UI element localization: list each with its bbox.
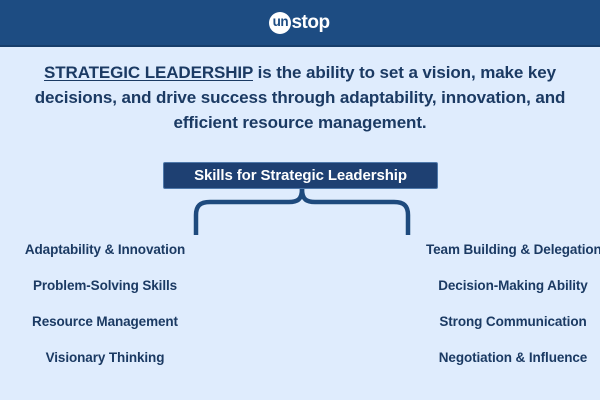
unstop-logo-mark: un bbox=[269, 12, 291, 34]
skill-item: Adaptability & Innovation bbox=[0, 232, 300, 268]
skill-item: Resource Management bbox=[0, 304, 300, 340]
header-band: un stop bbox=[0, 0, 600, 45]
skill-item: Decision-Making Ability bbox=[300, 268, 600, 304]
section-title-box: Skills for Strategic Leadership bbox=[163, 162, 438, 189]
skill-item: Problem-Solving Skills bbox=[0, 268, 300, 304]
infographic-canvas: un stop STRATEGIC LEADERSHIP is the abil… bbox=[0, 0, 600, 400]
curly-bracket-icon bbox=[190, 189, 414, 235]
skill-item: Visionary Thinking bbox=[0, 340, 300, 376]
skill-item: Strong Communication bbox=[300, 304, 600, 340]
unstop-logo[interactable]: un stop bbox=[269, 11, 330, 35]
headline-lead-term: STRATEGIC LEADERSHIP bbox=[44, 63, 253, 82]
curly-bracket-connector bbox=[190, 189, 414, 235]
skill-item: Negotiation & Influence bbox=[300, 340, 600, 376]
unstop-logo-wordmark: stop bbox=[291, 13, 329, 32]
skills-right-column: Team Building & Delegation Decision-Maki… bbox=[300, 232, 600, 376]
headline-paragraph: STRATEGIC LEADERSHIP is the ability to s… bbox=[22, 60, 578, 135]
skills-columns: Adaptability & Innovation Problem-Solvin… bbox=[0, 232, 600, 376]
skill-item: Team Building & Delegation bbox=[300, 232, 600, 268]
section-title-label: Skills for Strategic Leadership bbox=[194, 167, 407, 184]
skills-left-column: Adaptability & Innovation Problem-Solvin… bbox=[0, 232, 300, 376]
header-divider bbox=[0, 45, 600, 47]
